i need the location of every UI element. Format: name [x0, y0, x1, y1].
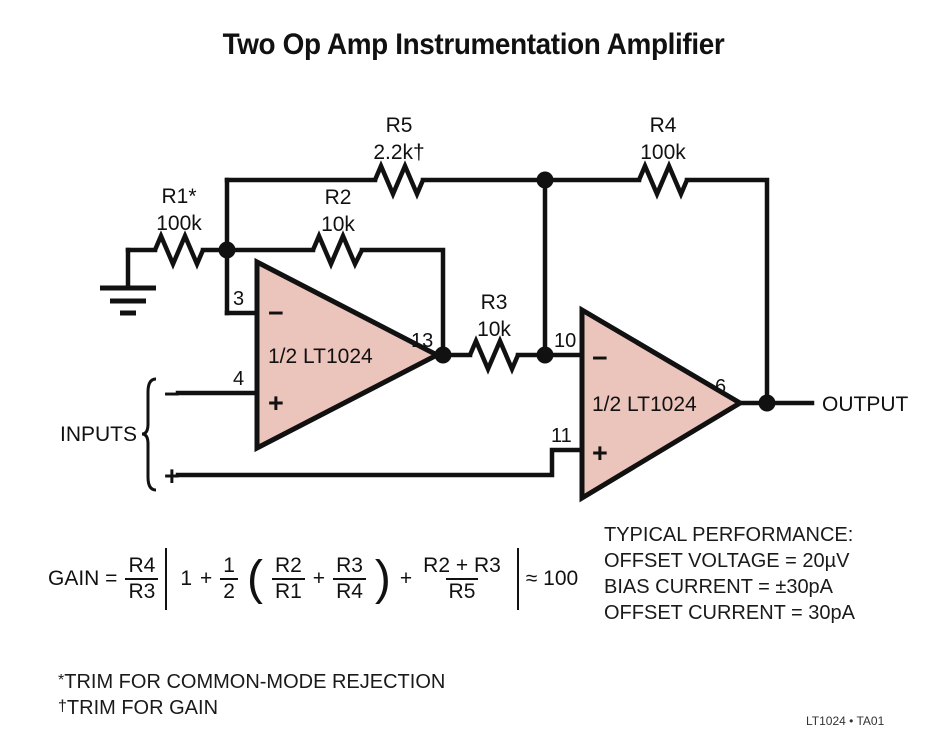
opamp-u2-minus-sign: − — [592, 343, 608, 373]
equation-plus-3: + — [396, 567, 416, 591]
footnotes-block: *TRIM FOR COMMON-MODE REJECTION †TRIM FO… — [58, 670, 445, 721]
r3-over-r4-numerator: R3 — [333, 554, 366, 578]
resistor-r1-value: 100k — [156, 212, 202, 235]
one-half-fraction: 1 2 — [220, 554, 238, 603]
footnote-star: *TRIM FOR COMMON-MODE REJECTION — [58, 670, 445, 696]
r3-over-r4-denominator: R4 — [333, 578, 366, 604]
resistor-r3-ref: R3 — [481, 291, 508, 314]
resistor-r5-symbol — [375, 166, 423, 194]
resistor-r1-symbol — [155, 236, 203, 264]
footnote-dagger: †TRIM FOR GAIN — [58, 696, 445, 722]
input-plus-sign: + — [164, 461, 180, 491]
equation-one: 1 — [176, 567, 196, 591]
gain-result: ≈ 100 — [522, 567, 582, 591]
resistor-r4-ref: R4 — [650, 114, 677, 137]
resistor-r3-value: 10k — [477, 318, 511, 341]
resistor-r4-symbol — [639, 166, 687, 194]
performance-heading: TYPICAL PERFORMANCE: — [604, 522, 855, 548]
input-minus-sign: − — [164, 379, 180, 409]
gain-label: GAIN = — [44, 567, 121, 591]
r2plusr3-over-r5-fraction: R2 + R3 R5 — [420, 554, 504, 603]
gain-equation: GAIN = R4 R3 1 + 1 2 ( R2 R1 + R3 R4 ) +… — [44, 548, 582, 610]
footnote-star-text: TRIM FOR COMMON-MODE REJECTION — [64, 671, 445, 693]
gain-ratio-fraction: R4 R3 — [125, 554, 158, 603]
resistor-r4-value: 100k — [640, 141, 686, 164]
schematic-diagram: 1/2 LT1024 − + 3 4 13 1/2 LT1024 − + 10 … — [0, 0, 947, 755]
junction-node-a — [219, 242, 236, 259]
opamp-u2-minus-pin: 10 — [554, 330, 576, 352]
resistor-r2-ref: R2 — [325, 186, 352, 209]
one-half-numerator: 1 — [220, 554, 238, 578]
inputs-brace — [142, 379, 156, 490]
opamp-u2-label: 1/2 LT1024 — [592, 393, 697, 416]
footnote-dagger-mark: † — [58, 698, 67, 715]
wire-r4-to-output — [687, 180, 767, 403]
r2-over-r1-numerator: R2 — [272, 554, 305, 578]
resistor-r1-ref: R1* — [161, 185, 196, 208]
opamp-u1-label: 1/2 LT1024 — [268, 345, 373, 368]
gain-ratio-denominator: R3 — [125, 578, 158, 604]
r2plusr3-numerator: R2 + R3 — [420, 554, 504, 578]
opamp-u2-plus-sign: + — [592, 438, 608, 468]
equation-plus-2: + — [309, 567, 329, 591]
junction-node-c — [537, 172, 554, 189]
opamp-u2-plus-pin: 11 — [551, 425, 572, 447]
r2-over-r1-fraction: R2 R1 — [272, 554, 305, 603]
resistor-r5-ref: R5 — [386, 114, 413, 137]
performance-offset-current: OFFSET CURRENT = 30pA — [604, 600, 855, 626]
opamp-u1-out-pin: 13 — [411, 330, 433, 352]
inputs-label: INPUTS — [60, 423, 137, 446]
junction-node-output — [759, 395, 776, 412]
opamp-u1-minus-pin: 3 — [233, 288, 244, 310]
one-half-denominator: 2 — [220, 578, 238, 604]
opamp-u1-plus-pin: 4 — [233, 368, 244, 390]
opamp-u1-plus-sign: + — [268, 388, 284, 418]
footnote-dagger-text: TRIM FOR GAIN — [67, 697, 218, 719]
part-number-tag: LT1024 • TA01 — [806, 714, 884, 728]
r2-over-r1-denominator: R1 — [272, 578, 305, 604]
resistor-r2-symbol — [313, 236, 362, 264]
gain-ratio-numerator: R4 — [125, 554, 158, 578]
performance-offset-voltage: OFFSET VOLTAGE = 20µV — [604, 548, 855, 574]
equation-plus-1: + — [196, 567, 216, 591]
resistor-r3-symbol — [470, 341, 518, 369]
wire-pin11 — [178, 450, 582, 475]
r3-over-r4-fraction: R3 R4 — [333, 554, 366, 603]
opamp-u2-out-pin: 6 — [715, 376, 726, 398]
junction-node-d — [537, 347, 554, 364]
wire-network — [128, 180, 812, 475]
output-label: OUTPUT — [822, 393, 909, 416]
resistor-r5-value: 2.2k† — [373, 141, 424, 164]
r2plusr3-denominator: R5 — [446, 578, 479, 604]
ground-symbol — [100, 288, 156, 313]
opamp-u1-minus-sign: − — [268, 298, 284, 328]
typical-performance-block: TYPICAL PERFORMANCE: OFFSET VOLTAGE = 20… — [604, 522, 855, 626]
performance-bias-current: BIAS CURRENT = ±30pA — [604, 574, 855, 600]
resistor-r2-value: 10k — [321, 213, 355, 236]
equation-bracket-group: 1 + 1 2 ( R2 R1 + R3 R4 ) + R2 + R3 R5 — [165, 548, 518, 610]
